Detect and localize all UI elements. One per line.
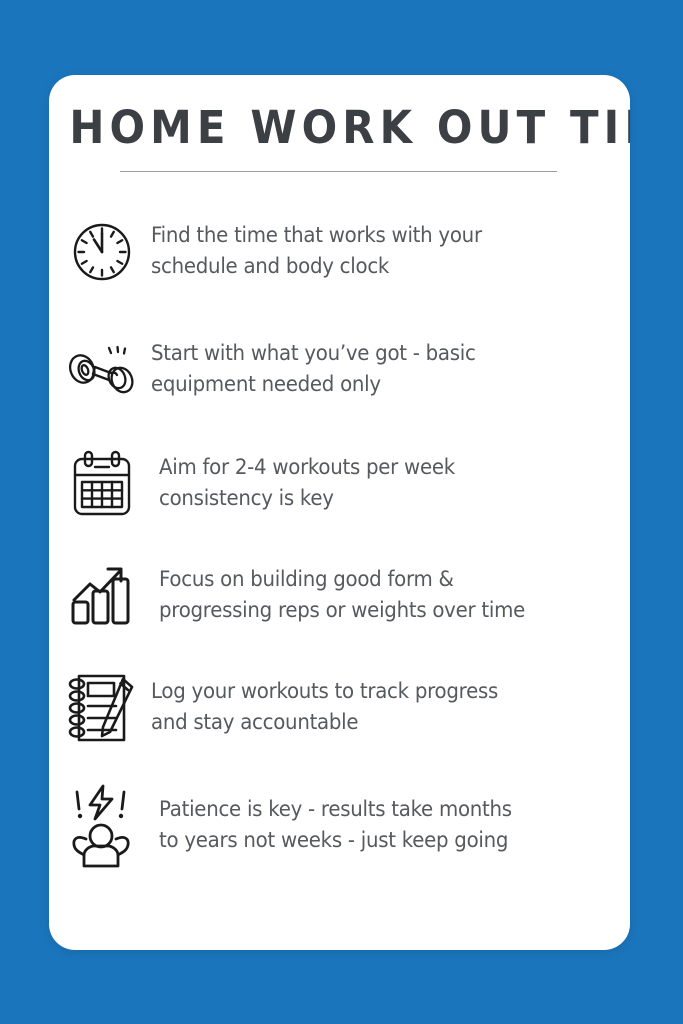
list-item-label: Start with what you’ve got - basic equip… bbox=[151, 339, 592, 400]
list-item: Start with what you’ve got - basic equip… bbox=[49, 320, 630, 420]
list-item-label: Aim for 2-4 workouts per week consistenc… bbox=[159, 453, 592, 514]
list-item-label: Focus on building good form & progressin… bbox=[159, 565, 592, 626]
tips-list: Find the time that works with your sched… bbox=[49, 202, 630, 876]
title-divider bbox=[120, 171, 557, 172]
person-celebrating-icon bbox=[59, 783, 145, 869]
list-item-label: Patience is key - results take months to… bbox=[159, 795, 592, 856]
page-title: HOME WORK OUT TIPS bbox=[69, 101, 609, 154]
dumbbell-icon bbox=[59, 339, 145, 401]
bar-chart-growth-icon bbox=[59, 564, 145, 628]
list-item: Find the time that works with your sched… bbox=[49, 202, 630, 302]
notebook-pencil-icon bbox=[59, 670, 145, 746]
list-item: Patience is key - results take months to… bbox=[49, 776, 630, 876]
list-item: Aim for 2-4 workouts per week consistenc… bbox=[49, 434, 630, 534]
list-item-label: Log your workouts to track progress and … bbox=[151, 677, 592, 738]
tips-card: HOME WORK OUT TIPS bbox=[49, 75, 630, 950]
list-item: Focus on building good form & progressin… bbox=[49, 546, 630, 646]
poster-background: HOME WORK OUT TIPS bbox=[0, 0, 683, 1024]
list-item-label: Find the time that works with your sched… bbox=[151, 221, 592, 282]
clock-icon bbox=[59, 221, 145, 283]
calendar-icon bbox=[59, 450, 145, 518]
list-item: Log your workouts to track progress and … bbox=[49, 658, 630, 758]
